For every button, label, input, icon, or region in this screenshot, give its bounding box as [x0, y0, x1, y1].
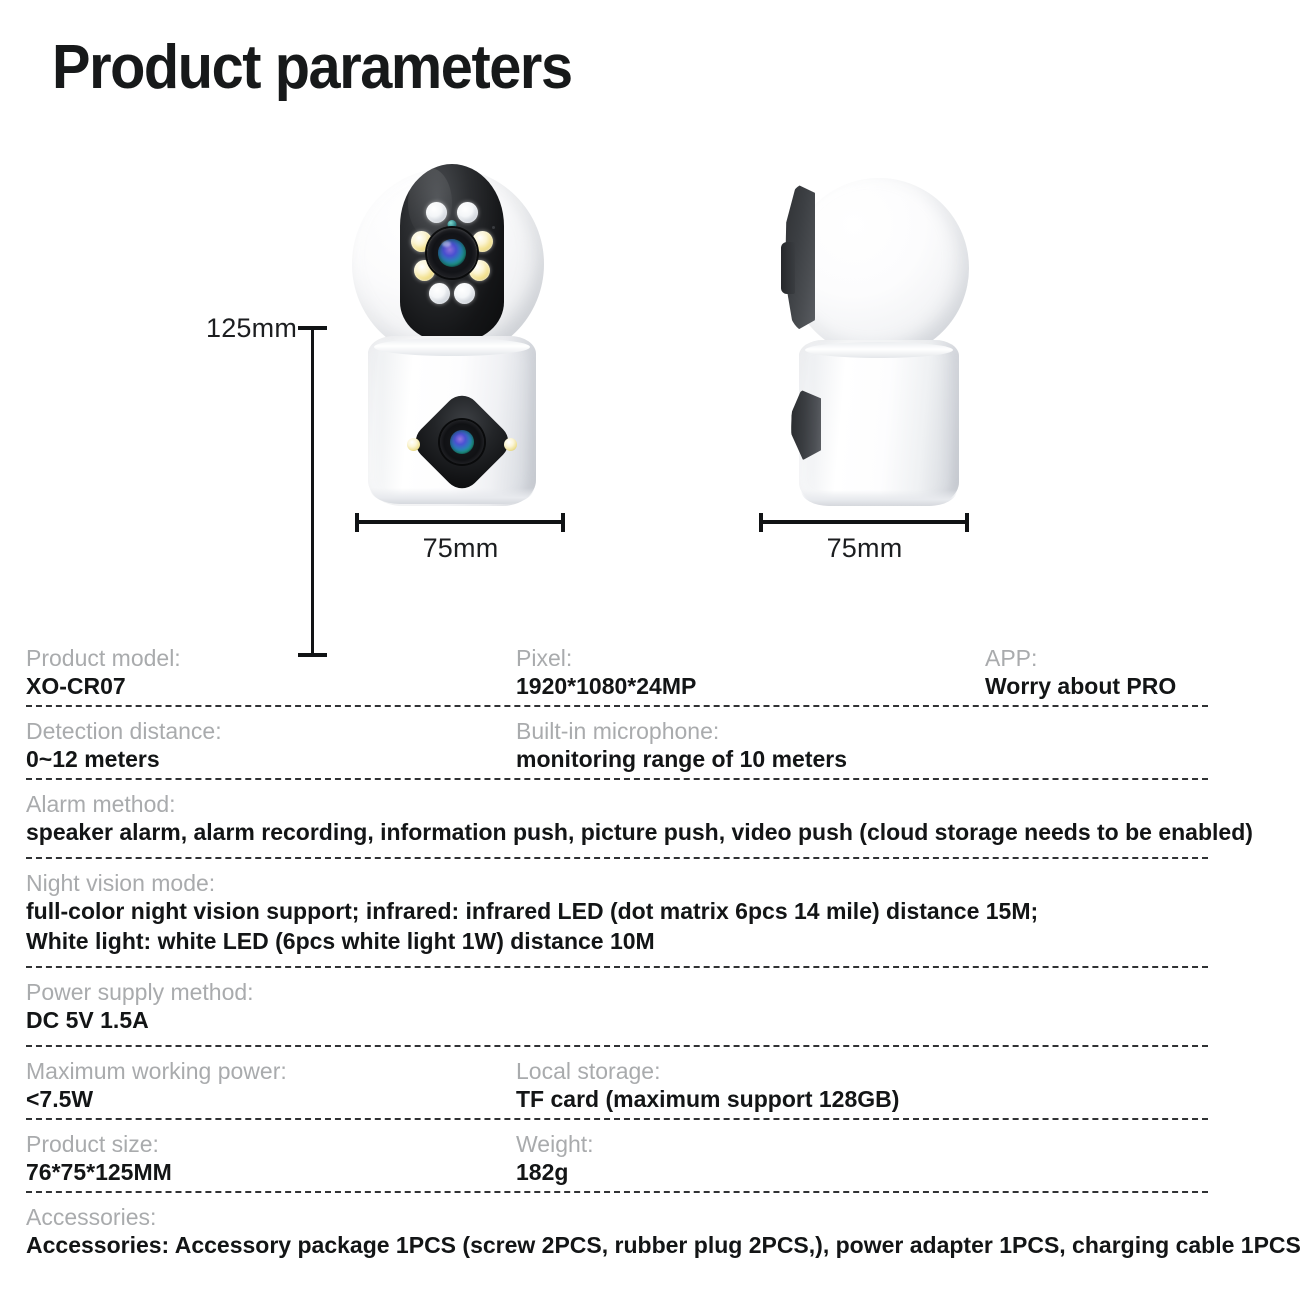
- camera-base-collar-side: [805, 342, 953, 358]
- specification-table: Product model: XO-CR07 Pixel: 1920*1080*…: [26, 636, 1208, 1270]
- spec-value: 76*75*125MM: [26, 1158, 172, 1188]
- spec-value: <7.5W: [26, 1085, 287, 1115]
- camera-faceplate-tab: [781, 242, 795, 294]
- spec-label: Accessories:: [26, 1203, 1208, 1231]
- front-width-dimension-label: 75mm: [356, 533, 565, 564]
- spec-row: Night vision mode: full-color night visi…: [26, 857, 1208, 966]
- front-width-cap-left: [355, 513, 359, 532]
- microphone-pinhole-icon: [492, 226, 495, 229]
- spec-label: Built-in microphone:: [516, 717, 847, 745]
- spec-cell-maximum-working-power: Maximum working power: <7.5W: [26, 1057, 287, 1115]
- main-camera-lens: [427, 228, 477, 278]
- camera-base-foot-side: [801, 490, 957, 506]
- spec-value: DC 5V 1.5A: [26, 1006, 1208, 1036]
- spec-label: Detection distance:: [26, 717, 222, 745]
- spec-cell-night-vision-mode: Night vision mode: full-color night visi…: [26, 869, 1208, 957]
- side-width-dimension-label: 75mm: [760, 533, 969, 564]
- spec-row: Product model: XO-CR07 Pixel: 1920*1080*…: [26, 636, 1208, 705]
- spec-row: Detection distance: 0~12 meters Built-in…: [26, 705, 1208, 778]
- camera-base-collar: [374, 338, 530, 356]
- camera-head-sphere-side: [789, 178, 969, 358]
- spec-label: Weight:: [516, 1130, 594, 1158]
- spec-value: XO-CR07: [26, 672, 181, 702]
- spec-label: Alarm method:: [26, 790, 1208, 818]
- height-dimension-line: [311, 328, 314, 655]
- front-width-dimension-line: [356, 520, 565, 524]
- spec-cell-builtin-microphone: Built-in microphone: monitoring range of…: [516, 717, 847, 775]
- spec-label: Pixel:: [516, 644, 696, 672]
- spec-label: Product size:: [26, 1130, 172, 1158]
- spec-label: Product model:: [26, 644, 181, 672]
- front-width-cap-right: [561, 513, 565, 532]
- page-title: Product parameters: [52, 32, 572, 103]
- led-icon: [457, 202, 478, 223]
- spec-value-line-2: White light: white LED (6pcs white light…: [26, 927, 1208, 957]
- spec-cell-power-supply-method: Power supply method: DC 5V 1.5A: [26, 978, 1208, 1036]
- spec-label: Power supply method:: [26, 978, 1208, 1006]
- spec-label: Local storage:: [516, 1057, 899, 1085]
- spec-cell-pixel: Pixel: 1920*1080*24MP: [516, 644, 696, 702]
- spec-label: Maximum working power:: [26, 1057, 287, 1085]
- camera-side-view: [775, 168, 975, 508]
- spec-value: 1920*1080*24MP: [516, 672, 696, 702]
- camera-front-view: [352, 168, 572, 508]
- led-icon: [407, 438, 420, 451]
- side-width-cap-left: [759, 513, 763, 532]
- spec-label: APP:: [985, 644, 1176, 672]
- height-dimension-label: 125mm: [206, 313, 297, 344]
- led-icon: [504, 438, 517, 451]
- spec-row: Maximum working power: <7.5W Local stora…: [26, 1045, 1208, 1118]
- spec-row: Power supply method: DC 5V 1.5A: [26, 966, 1208, 1045]
- spec-value-line-1: full-color night vision support; infrare…: [26, 897, 1208, 927]
- spec-cell-app: APP: Worry about PRO: [985, 644, 1176, 702]
- spec-value: 0~12 meters: [26, 745, 222, 775]
- spec-value: TF card (maximum support 128GB): [516, 1085, 899, 1115]
- side-width-cap-right: [965, 513, 969, 532]
- led-icon: [454, 283, 475, 304]
- spec-row: Product size: 76*75*125MM Weight: 182g: [26, 1118, 1208, 1191]
- camera-base-foot: [370, 488, 534, 504]
- secondary-camera-lens: [440, 420, 484, 464]
- height-dimension-cap-top: [298, 326, 327, 330]
- secondary-camera-module-edge: [791, 390, 821, 460]
- spec-value: Accessories: Accessory package 1PCS (scr…: [26, 1231, 1208, 1261]
- spec-row: Alarm method: speaker alarm, alarm recor…: [26, 778, 1208, 857]
- side-width-dimension-line: [760, 520, 969, 524]
- spec-cell-local-storage: Local storage: TF card (maximum support …: [516, 1057, 899, 1115]
- spec-value: monitoring range of 10 meters: [516, 745, 847, 775]
- spec-cell-product-size: Product size: 76*75*125MM: [26, 1130, 172, 1188]
- spec-value: 182g: [516, 1158, 594, 1188]
- led-icon: [426, 202, 447, 223]
- spec-label: Night vision mode:: [26, 869, 1208, 897]
- spec-cell-alarm-method: Alarm method: speaker alarm, alarm recor…: [26, 790, 1208, 848]
- led-icon: [429, 283, 450, 304]
- spec-value: Worry about PRO: [985, 672, 1176, 702]
- product-image-area: [0, 150, 1300, 590]
- spec-value: speaker alarm, alarm recording, informat…: [26, 818, 1208, 848]
- spec-cell-accessories: Accessories: Accessories: Accessory pack…: [26, 1203, 1208, 1261]
- spec-cell-detection-distance: Detection distance: 0~12 meters: [26, 717, 222, 775]
- spec-cell-weight: Weight: 182g: [516, 1130, 594, 1188]
- camera-base-side: [799, 340, 959, 506]
- camera-faceplate: [400, 164, 504, 342]
- spec-row: Accessories: Accessories: Accessory pack…: [26, 1191, 1208, 1270]
- spec-cell-product-model: Product model: XO-CR07: [26, 644, 181, 702]
